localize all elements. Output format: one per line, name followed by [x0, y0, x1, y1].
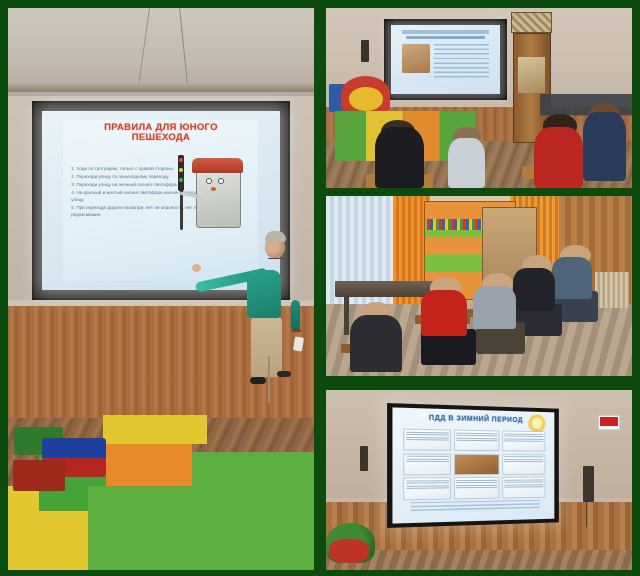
child-body-2 [448, 138, 485, 188]
projector-screen: ПДД В ЗИМНИЙ ПЕРИОД [393, 408, 555, 524]
teacher-shoe-right [277, 371, 291, 377]
projector-screen-frame: ПДД В ЗИМНИЙ ПЕРИОД [387, 403, 559, 528]
slide-rule-3: 3. Переходи улицу на зеленый сигнал свет… [71, 181, 208, 188]
child-body-1 [350, 315, 402, 373]
slide-illustration [402, 44, 430, 73]
teacher-shoe-left [250, 377, 266, 384]
panel-teacher-presenting: ПРАВИЛА ДЛЯ ЮНОГО ПЕШЕХОДА 1. Ходи по тр… [8, 8, 314, 570]
panel-children-watching [326, 8, 632, 188]
slide-cell-3 [502, 431, 545, 452]
slide-text-grid [403, 429, 545, 500]
projector-screen: ПРАВИЛА ДЛЯ ЮНОГО ПЕШЕХОДА 1. Ходи по тр… [42, 111, 280, 291]
slide-rule-2: 2. Переходи улицу по пешеходному переход… [71, 173, 208, 180]
slide-title-line-1 [402, 30, 489, 33]
slide-rule-1: 1. Ходи по тротуарам, только с правой ст… [71, 165, 208, 172]
slide-cell-4 [403, 453, 451, 475]
slide-cell-1 [403, 429, 451, 451]
door-transom-window [511, 12, 552, 34]
slide-central-illustration [454, 454, 500, 475]
slide-cell-9 [502, 477, 545, 498]
soft-play-tunnel-red [329, 539, 369, 562]
floor-mat-yellow-back [103, 415, 207, 443]
cushion-red-lower [13, 460, 65, 491]
child-body-1 [375, 127, 424, 188]
slide-cell-8 [454, 477, 500, 499]
slide-footer-text [410, 500, 539, 514]
cartoon-character-eye-left [206, 178, 212, 184]
wall-speaker-left [360, 446, 368, 471]
wall-speaker-left [361, 40, 368, 62]
panel-children-seated-row [326, 196, 632, 376]
radiator [595, 272, 629, 308]
table-leg-left [344, 295, 349, 335]
child-body-2 [421, 290, 467, 337]
ceiling-rail [8, 83, 314, 92]
projector-screen-frame [384, 19, 506, 100]
teacher-trouser-seam [268, 356, 270, 403]
child-body-4 [513, 268, 556, 311]
cartoon-character-eye-right [218, 178, 224, 184]
slide-cell-7 [403, 478, 451, 500]
slide-title: ПДД В ЗИМНИЙ ПЕРИОД [407, 414, 543, 424]
projector-screen [391, 25, 500, 94]
wall-speaker-right [583, 466, 594, 502]
child-body-3 [473, 286, 516, 329]
teacher-glasses [268, 258, 284, 263]
emergency-sign [598, 415, 619, 429]
floor-mat-green-right [192, 452, 314, 491]
slide-title-line-2 [406, 36, 484, 39]
slide-title: ПРАВИЛА ДЛЯ ЮНОГО ПЕШЕХОДА [75, 123, 247, 144]
child-body-3 [534, 127, 583, 188]
slide-surface: ПРАВИЛА ДЛЯ ЮНОГО ПЕШЕХОДА 1. Ходи по тр… [63, 120, 258, 282]
door-glass-panel [518, 57, 546, 93]
slide-cell-6 [502, 454, 545, 475]
slide-rule-5: 5. При переходе дороги посмотри, нет ли … [71, 204, 208, 219]
floor-mat-green-front [88, 486, 314, 570]
slide-text-block [434, 44, 488, 80]
panel-winter-rules-slide: ПДД В ЗИМНИЙ ПЕРИОД [326, 390, 632, 570]
teacher-sweater [247, 270, 281, 318]
teacher-pointing-hand [192, 264, 201, 272]
speaker-cable [586, 502, 587, 527]
teacher-trousers [251, 317, 282, 377]
teacher-lowered-arm [291, 300, 300, 332]
child-body-4 [583, 112, 626, 180]
cartoon-character-cap [192, 158, 243, 173]
photo-collage: ПРАВИЛА ДЛЯ ЮНОГО ПЕШЕХОДА 1. Ходи по тр… [0, 0, 640, 576]
soft-play-block-yellow [349, 87, 383, 110]
child-body-5 [552, 257, 592, 298]
teacher-hair [265, 231, 286, 242]
slide-cell-2 [454, 430, 500, 452]
